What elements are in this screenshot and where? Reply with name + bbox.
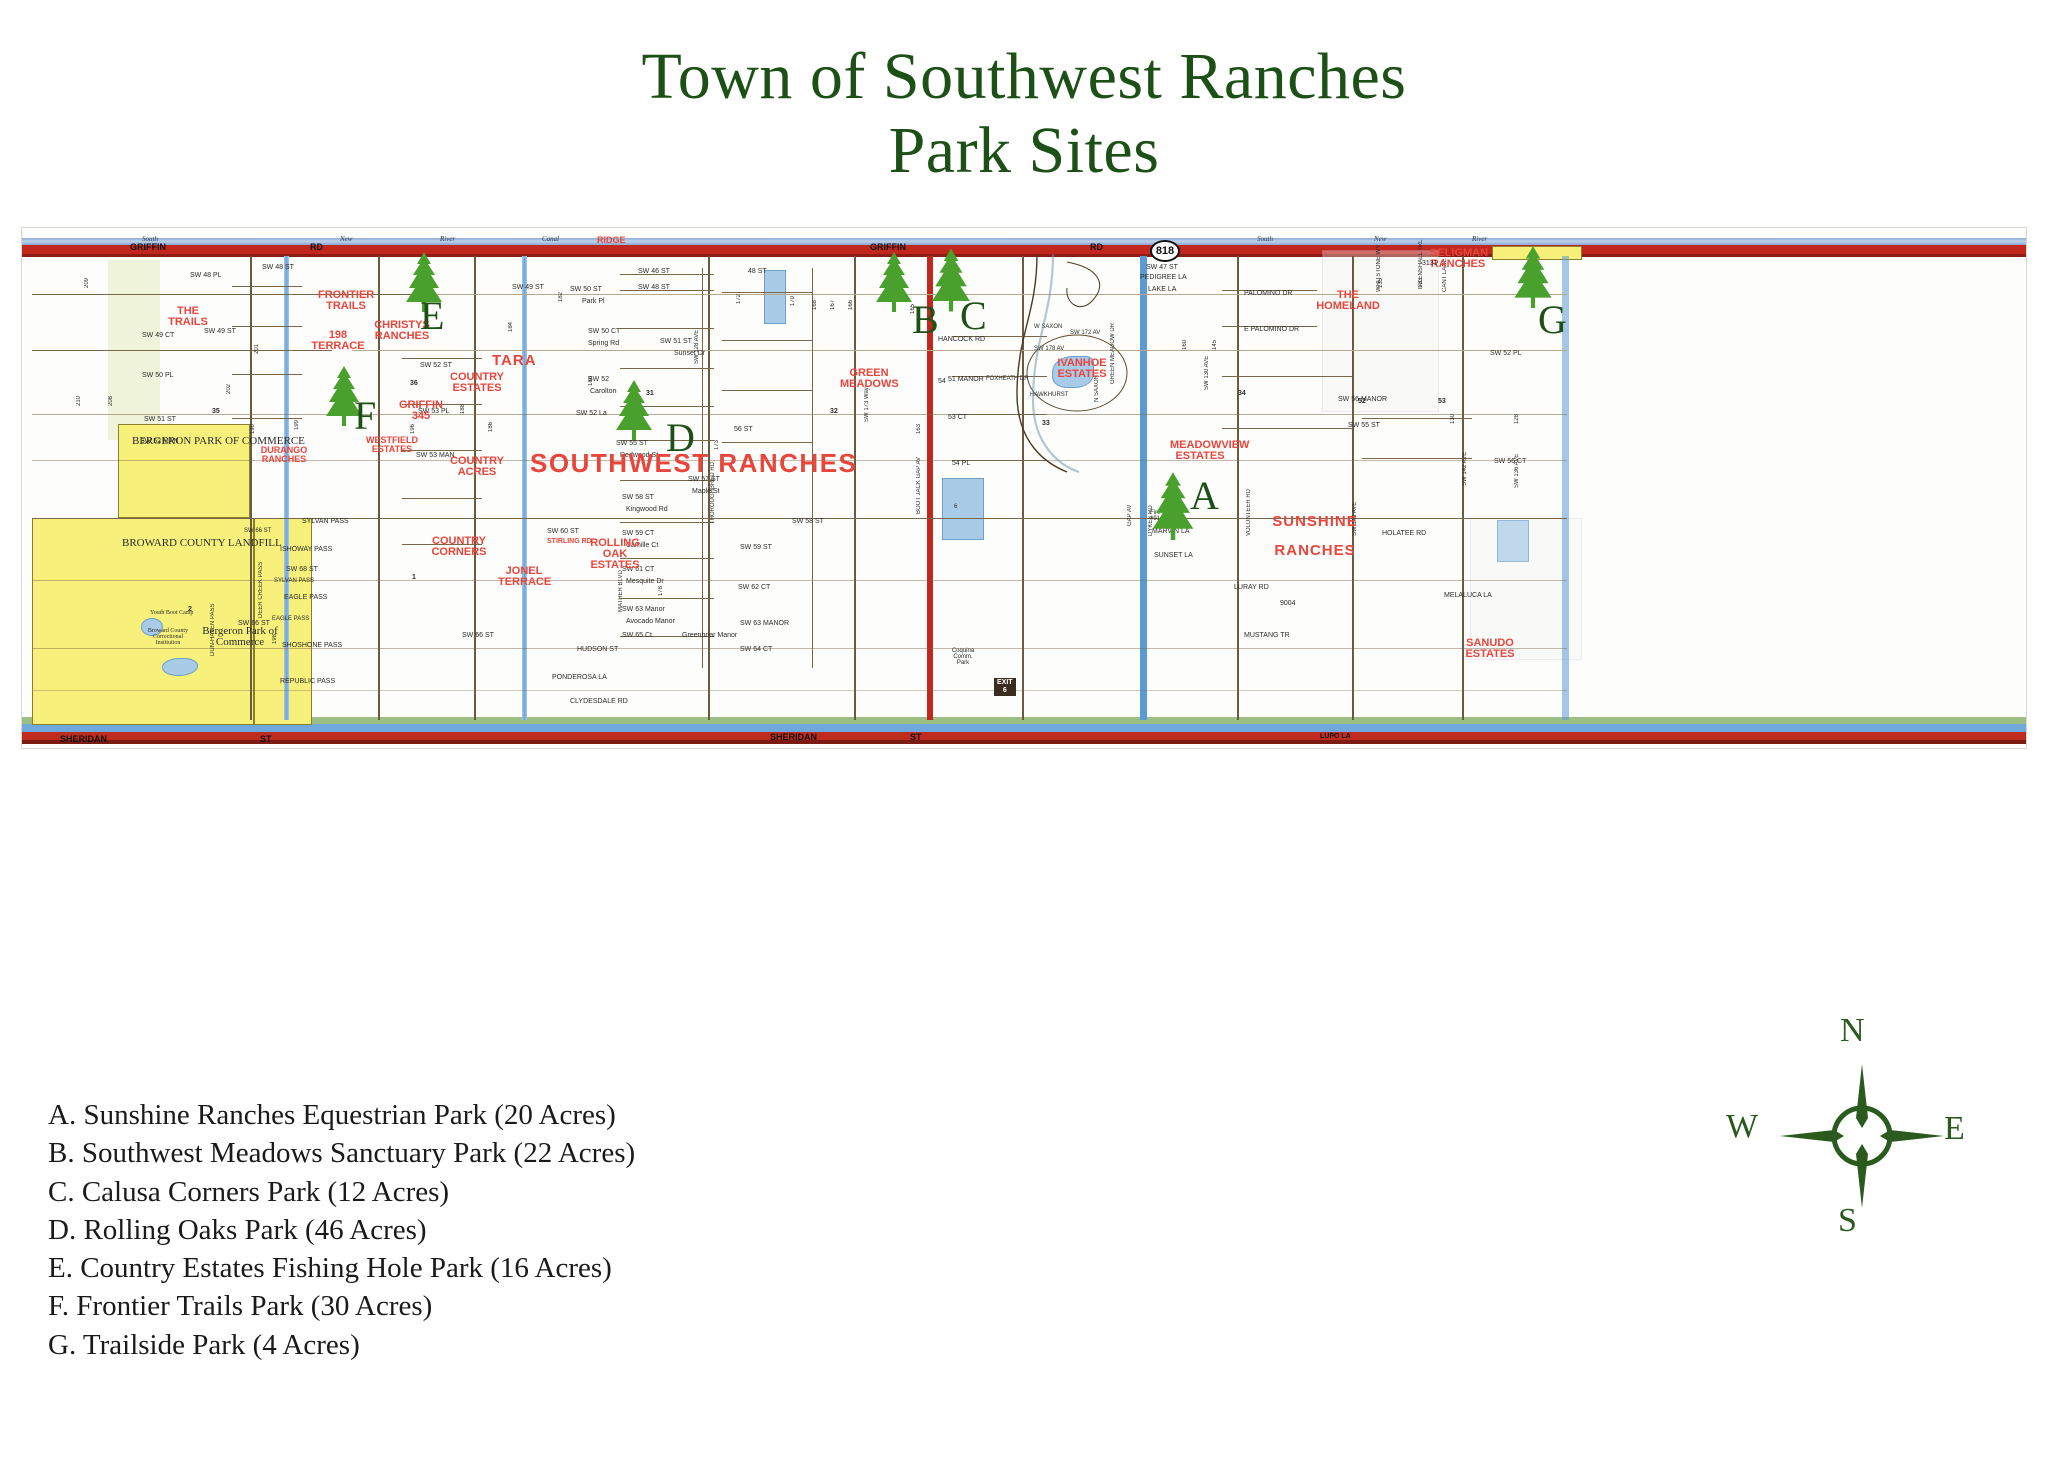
parcel-number: 186 (488, 406, 494, 432)
parcel-number: 188 (460, 388, 466, 414)
street-label: SW 51 ST (144, 416, 176, 423)
street-label: SHOSHONE PASS (282, 642, 342, 649)
street-label: SW 65 Ct (622, 632, 652, 639)
street-label: E PALOMINO DR (1244, 326, 1299, 333)
neighborhood-label: COUNTRY ACRES (450, 456, 504, 478)
neighborhood-label: GREEN MEADOWS (840, 368, 898, 390)
park-marker-a[interactable]: A (1190, 476, 1219, 516)
neighborhood-label: ROLLING OAK ESTATES (584, 538, 646, 571)
street-label: SW 63 Manor (622, 606, 665, 613)
exit-word: EXIT (997, 679, 1013, 687)
parcel-number: 168 (812, 284, 818, 310)
vroad-452 (474, 256, 476, 720)
street-label: ISHOWAY PASS (280, 546, 332, 553)
legend-item-f: F. Frontier Trails Park (30 Acres) (48, 1287, 635, 1325)
parcel-number: 170 (790, 280, 796, 306)
street-label: SW 48 ST (262, 264, 294, 271)
neighborhood-label: COUNTRY ESTATES (450, 372, 504, 394)
turnpike-interchange (1007, 254, 1137, 474)
street-label: MELALUCA LA (1444, 592, 1492, 599)
canal-label-canal: Canal (542, 236, 559, 243)
street-label: SW 50 ST (570, 286, 602, 293)
street-label: SW 52 La (576, 410, 607, 417)
neighborhood-label: WESTFIELD ESTATES (362, 436, 422, 454)
neighborhood-label: DURANGO RANCHES (256, 446, 312, 464)
street-label: SW 62 CT (738, 584, 770, 591)
lake-dykes (942, 478, 984, 540)
street-label: 53 CT (948, 414, 967, 421)
neighborhood-label: MEADOWVIEW ESTATES (1170, 440, 1230, 462)
parcel-number: 53 (1438, 398, 1446, 405)
parcel-number: 173 (714, 424, 720, 450)
parcel-number: 199 (294, 404, 300, 430)
pine-tree-icon (614, 378, 654, 440)
street-label: 51 MANOR (948, 376, 984, 383)
parcel-number: 209 (84, 258, 90, 288)
old-sheridan-label: LUPO LA (1320, 733, 1351, 740)
park-marker-f[interactable]: F (354, 396, 376, 436)
park-marker-c[interactable]: C (960, 296, 987, 336)
street-label: Kingwood Rd (626, 506, 668, 513)
compass-west-label: W (1726, 1108, 1758, 1146)
street-label: THOROUGHBRED RD (710, 490, 716, 524)
street-label: PALOMINO DR (1244, 290, 1293, 297)
street-label: Park Pl (582, 298, 605, 305)
park-marker-g[interactable]: G (1538, 300, 1567, 340)
parcel-number: 9004 (1280, 600, 1296, 607)
parcel-number: 128 (1514, 398, 1520, 424)
lake-49 (764, 270, 786, 324)
park-marker-b[interactable]: B (912, 300, 939, 340)
neighborhood-label: SANUDO ESTATES (1462, 638, 1518, 660)
street-label: 48 ST (748, 268, 767, 275)
pass-label: SW 66 ST (244, 528, 271, 534)
parcel-number: 35 (212, 408, 220, 415)
street-label: Sunset Dr (674, 350, 705, 357)
canal-label-new-2: New (1374, 236, 1386, 243)
street-label: SYLVAN PASS (302, 518, 349, 525)
compass-star-icon (1772, 1056, 1952, 1216)
street-label: HUDSON ST (577, 646, 618, 653)
sheridan-st-label-2: ST (910, 733, 922, 742)
street-label: SW 52 ST (420, 362, 452, 369)
canal-label-south-2: South (1257, 236, 1273, 243)
parcel-number: 34 (1238, 390, 1246, 397)
street-label: Avocado Manor (626, 618, 675, 625)
canal-road-2 (522, 256, 527, 720)
parcel-number: 145 (1212, 324, 1218, 350)
parcel-number: 196 (410, 408, 416, 434)
pass-label: SYLVAN PASS (274, 578, 314, 584)
street-label: SW 63 MANOR (740, 620, 789, 627)
street-label: SW 48 PL (190, 272, 222, 279)
compass-north-label: N (1840, 1012, 1865, 1050)
parcel-number: 208 (108, 376, 114, 406)
parcel-number: 163 (916, 408, 922, 434)
street-label: SW 55 ST (616, 440, 648, 447)
parcel-number-3131: 6 (954, 504, 957, 510)
park-marker-d[interactable]: D (666, 418, 695, 458)
parcel-number-9004: 3131 (1422, 260, 1438, 267)
street-label: SUNSET LA (1154, 552, 1193, 559)
legend-item-e: E. Country Estates Fishing Hole Park (16… (48, 1249, 635, 1287)
neighborhood-label: 198 TERRACE (308, 330, 368, 352)
neighborhood-label: COUNTRY CORNERS (430, 536, 488, 558)
legend-item-a: A. Sunshine Ranches Equestrian Park (20 … (48, 1096, 635, 1134)
ridge-label: RIDGE (597, 236, 626, 245)
neighborhood-label: JONEL TERRACE (498, 566, 550, 588)
vroad-832 (854, 256, 856, 720)
street-label: SW 55 ST (1348, 422, 1380, 429)
parcel-number: 135 (1378, 262, 1384, 288)
street-label: 54 PL (952, 460, 970, 467)
exit-marker: EXIT 6 (994, 678, 1016, 696)
neighborhood-label: SELIGMAN RANCHES (1430, 248, 1486, 270)
exit-number: 6 (997, 687, 1013, 695)
sheridan-label-mid: SHERIDAN (770, 733, 817, 742)
parcel-number: 1 (412, 574, 416, 581)
sheridan-canal (22, 724, 2026, 732)
street-label: HOLATEE RD (1382, 530, 1426, 537)
street-label: SW 49 ST (512, 284, 544, 291)
park-legend-list: A. Sunshine Ranches Equestrian Park (20 … (48, 1096, 635, 1364)
neighborhood-label: TARA (492, 353, 537, 368)
griffin-rd-label-2: RD (1090, 243, 1103, 252)
street-label: SW 66 ST (462, 632, 494, 639)
street-label: Greenbriar Manor (682, 632, 737, 639)
street-label: REPUBLIC PASS (280, 678, 335, 685)
pine-tree-icon (874, 250, 914, 312)
parcel-number: 190 (250, 408, 256, 434)
street-label: CLYDESDALE RD (570, 698, 628, 705)
sheridan-road-casing (22, 740, 2026, 744)
parcel-number: 172 (736, 278, 742, 304)
street-label: SW 56 CT (1494, 458, 1526, 465)
place-label-correctional: Broward County Correctional Institution (146, 628, 190, 646)
street-label: SW 47 ST (1146, 264, 1178, 271)
parcel-number: 54 (938, 378, 946, 385)
parcel-number: 184 (508, 306, 514, 332)
street-label: SW 49 CT (142, 332, 174, 339)
street-label: SW 128 AVE (694, 318, 700, 364)
place-label-landfill: BROWARD COUNTY LANDFILL (122, 538, 282, 549)
parcel-number: 210 (76, 376, 82, 406)
parcel-number: 182 (558, 276, 564, 302)
parcel-number: 130 (1450, 398, 1456, 424)
legend-item-c: C. Calusa Corners Park (12 Acres) (48, 1173, 635, 1211)
street-label: 56 ST (734, 426, 753, 433)
parcel-number: 36 (410, 380, 418, 387)
street-label: SW 64 CT (740, 646, 772, 653)
parcel-number: 166 (848, 284, 854, 310)
sheridan-st-label: ST (260, 735, 272, 744)
street-label: LAKE LA (1148, 286, 1176, 293)
street-label: SW 136 AVE (1514, 430, 1520, 488)
street-label: BOOT JACK GAP AV (916, 464, 922, 514)
street-label: Carolton (590, 388, 616, 395)
legend-item-d: D. Rolling Oaks Park (46 Acres) (48, 1211, 635, 1249)
neighborhood-label: THE TRAILS (168, 306, 208, 328)
parcel-number: 180 (588, 360, 594, 386)
parcel-number: 202 (226, 368, 232, 394)
street-label: SW 50 CT (588, 328, 620, 335)
street-label: SW 60 ST (547, 528, 579, 535)
route-shield-818: 818 (1150, 240, 1180, 262)
street-label: EAGLE PASS (284, 594, 327, 601)
parcel-number: 178 (658, 570, 664, 596)
street-label: SW 52 PL (1490, 350, 1522, 357)
place-label-boot-camp: Youth Boot Camp (150, 610, 193, 616)
street-label: SW 142 AVE (1462, 428, 1468, 486)
parcel-number: 32 (830, 408, 838, 415)
place-label-bergeron-2: Bergeron Park of Commerce (200, 626, 280, 648)
neighborhood-label: FRONTIER TRAILS (318, 290, 374, 312)
street-label: SW 59 CT (622, 530, 654, 537)
street-label: SW 50 PL (142, 372, 174, 379)
legend-item-g: G. Trailside Park (4 Acres) (48, 1326, 635, 1364)
compass-rose: N E S W (1712, 1012, 2012, 1262)
title-line-2: Park Sites (0, 114, 2048, 188)
griffin-label-west: GRIFFIN (130, 243, 166, 252)
street-label: Spring Rd (588, 340, 619, 347)
street-label: VOLUNTEER RD (1246, 478, 1252, 536)
street-label: SW 49 ST (204, 328, 236, 335)
street-label: MUSTANG TR (1244, 632, 1290, 639)
legend-item-b: B. Southwest Meadows Sanctuary Park (22 … (48, 1134, 635, 1172)
street-label: DEER CREEK PASS (258, 558, 264, 618)
street-label: LURAY RD (1234, 584, 1269, 591)
street-label: SW 59 ST (740, 544, 772, 551)
neighborhood-label: THE HOMELAND (1310, 290, 1386, 312)
street-label: SW 58 ST (622, 494, 654, 501)
parcel-number: 160 (1182, 324, 1188, 350)
street-label: SW 51 ST (660, 338, 692, 345)
place-label-coquina: Coquina Comm. Park (948, 648, 978, 666)
parcel-number: 201 (254, 328, 260, 354)
street-label: SW 68 ST (286, 566, 318, 573)
street-label: SW 58 ST (792, 518, 824, 525)
map-canvas: South New River Canal South New River RI… (22, 228, 2026, 748)
volunteer-road (1140, 256, 1147, 720)
canal-label-river: River (440, 236, 455, 243)
street-label: SW 130 AVE (1204, 328, 1210, 390)
park-sites-map[interactable]: South New River Canal South New River RI… (22, 228, 2026, 748)
canal-label-river-2: River (1472, 236, 1487, 243)
sheridan-label-west: SHERIDAN (60, 735, 107, 744)
title-line-1: Town of Southwest Ranches (0, 40, 2048, 114)
street-label: PEDIGREE LA (1140, 274, 1187, 281)
griffin-rd-label: RD (310, 243, 323, 252)
street-label: SW 48 ST (638, 284, 670, 291)
parcel-number: 167 (830, 284, 836, 310)
place-label-bergeron-1: BERGERON PARK OF COMMERCE (132, 436, 305, 447)
neighborhood-label: GRIFFIN 345 (394, 400, 448, 422)
parcel-number: 52 (1358, 398, 1366, 405)
page-title: Town of Southwest Ranches Park Sites (0, 40, 2048, 188)
parcel-number: 198 (272, 618, 278, 644)
street-label: SW 46 ST (638, 268, 670, 275)
street-label: PONDEROSA LA (552, 674, 607, 681)
parcel-number: 2 (188, 606, 192, 613)
sheridan-road (22, 732, 2026, 740)
neighborhood-label: SUNSHINE RANCHES (1270, 508, 1360, 565)
park-marker-e[interactable]: E (420, 296, 444, 336)
canal-label-new: New (340, 236, 352, 243)
street-label: MATHER BLVD (618, 578, 624, 612)
